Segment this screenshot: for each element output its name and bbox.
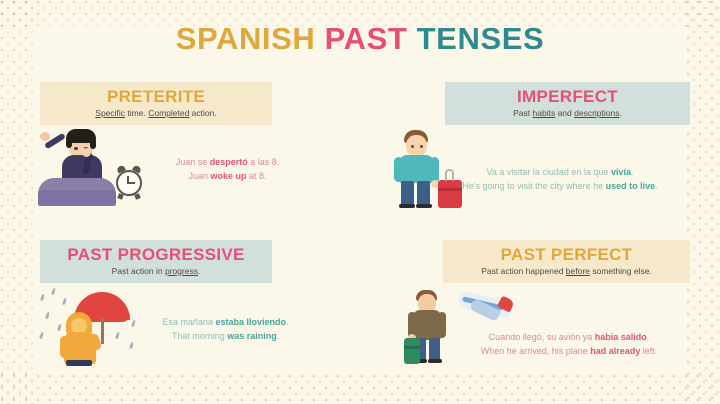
example-spanish-past-perfect: Cuando llegó, su avión ya había salido. [435,331,703,345]
tense-name-past-progressive: PAST PROGRESSIVE [48,246,264,264]
header-band-preterite: PRETERITE Specific time. Completed actio… [40,82,272,125]
example-past-progressive: Esa mañana estaba lloviendo. That mornin… [118,316,333,344]
example-past-perfect: Cuando llegó, su avión ya había salido. … [435,331,703,359]
example-imperfect: Va a visitar la ciudad en la que vivía. … [420,166,700,194]
example-english-imperfect: He's going to visit the city where he us… [420,180,700,194]
tense-name-imperfect: IMPERFECT [453,88,682,106]
page-title: SPANISH PAST TENSES [0,23,720,54]
infographic-poster: SPANISH PAST TENSES PRETERITE Specific t… [0,0,720,404]
tense-name-preterite: PRETERITE [48,88,264,106]
example-preterite: Juan se despertó a las 8. Juan woke up a… [120,156,335,184]
example-english-preterite: Juan woke up at 8. [120,170,335,184]
header-band-past-progressive: PAST PROGRESSIVE Past action in progress… [40,240,272,283]
title-word-past: PAST [325,21,408,56]
example-english-past-perfect: When he arrived, his plane had already l… [435,345,703,359]
tense-subtitle-past-progressive: Past action in progress. [48,266,264,276]
dotted-border-left [0,0,34,404]
dotted-border-bottom [0,374,720,404]
header-band-imperfect: IMPERFECT Past habits and descriptions. [445,82,690,125]
example-english-past-progressive: That morning was raining. [118,330,333,344]
example-spanish-past-progressive: Esa mañana estaba lloviendo. [118,316,333,330]
tense-subtitle-past-perfect: Past action happened before something el… [451,266,682,276]
title-word-tenses: TENSES [417,21,545,56]
tense-name-past-perfect: PAST PERFECT [451,246,682,264]
title-word-spanish: SPANISH [176,21,316,56]
tense-subtitle-imperfect: Past habits and descriptions. [453,108,682,118]
example-spanish-imperfect: Va a visitar la ciudad en la que vivía. [420,166,700,180]
tense-subtitle-preterite: Specific time. Completed action. [48,108,264,118]
example-spanish-preterite: Juan se despertó a las 8. [120,156,335,170]
header-band-past-perfect: PAST PERFECT Past action happened before… [443,240,690,283]
